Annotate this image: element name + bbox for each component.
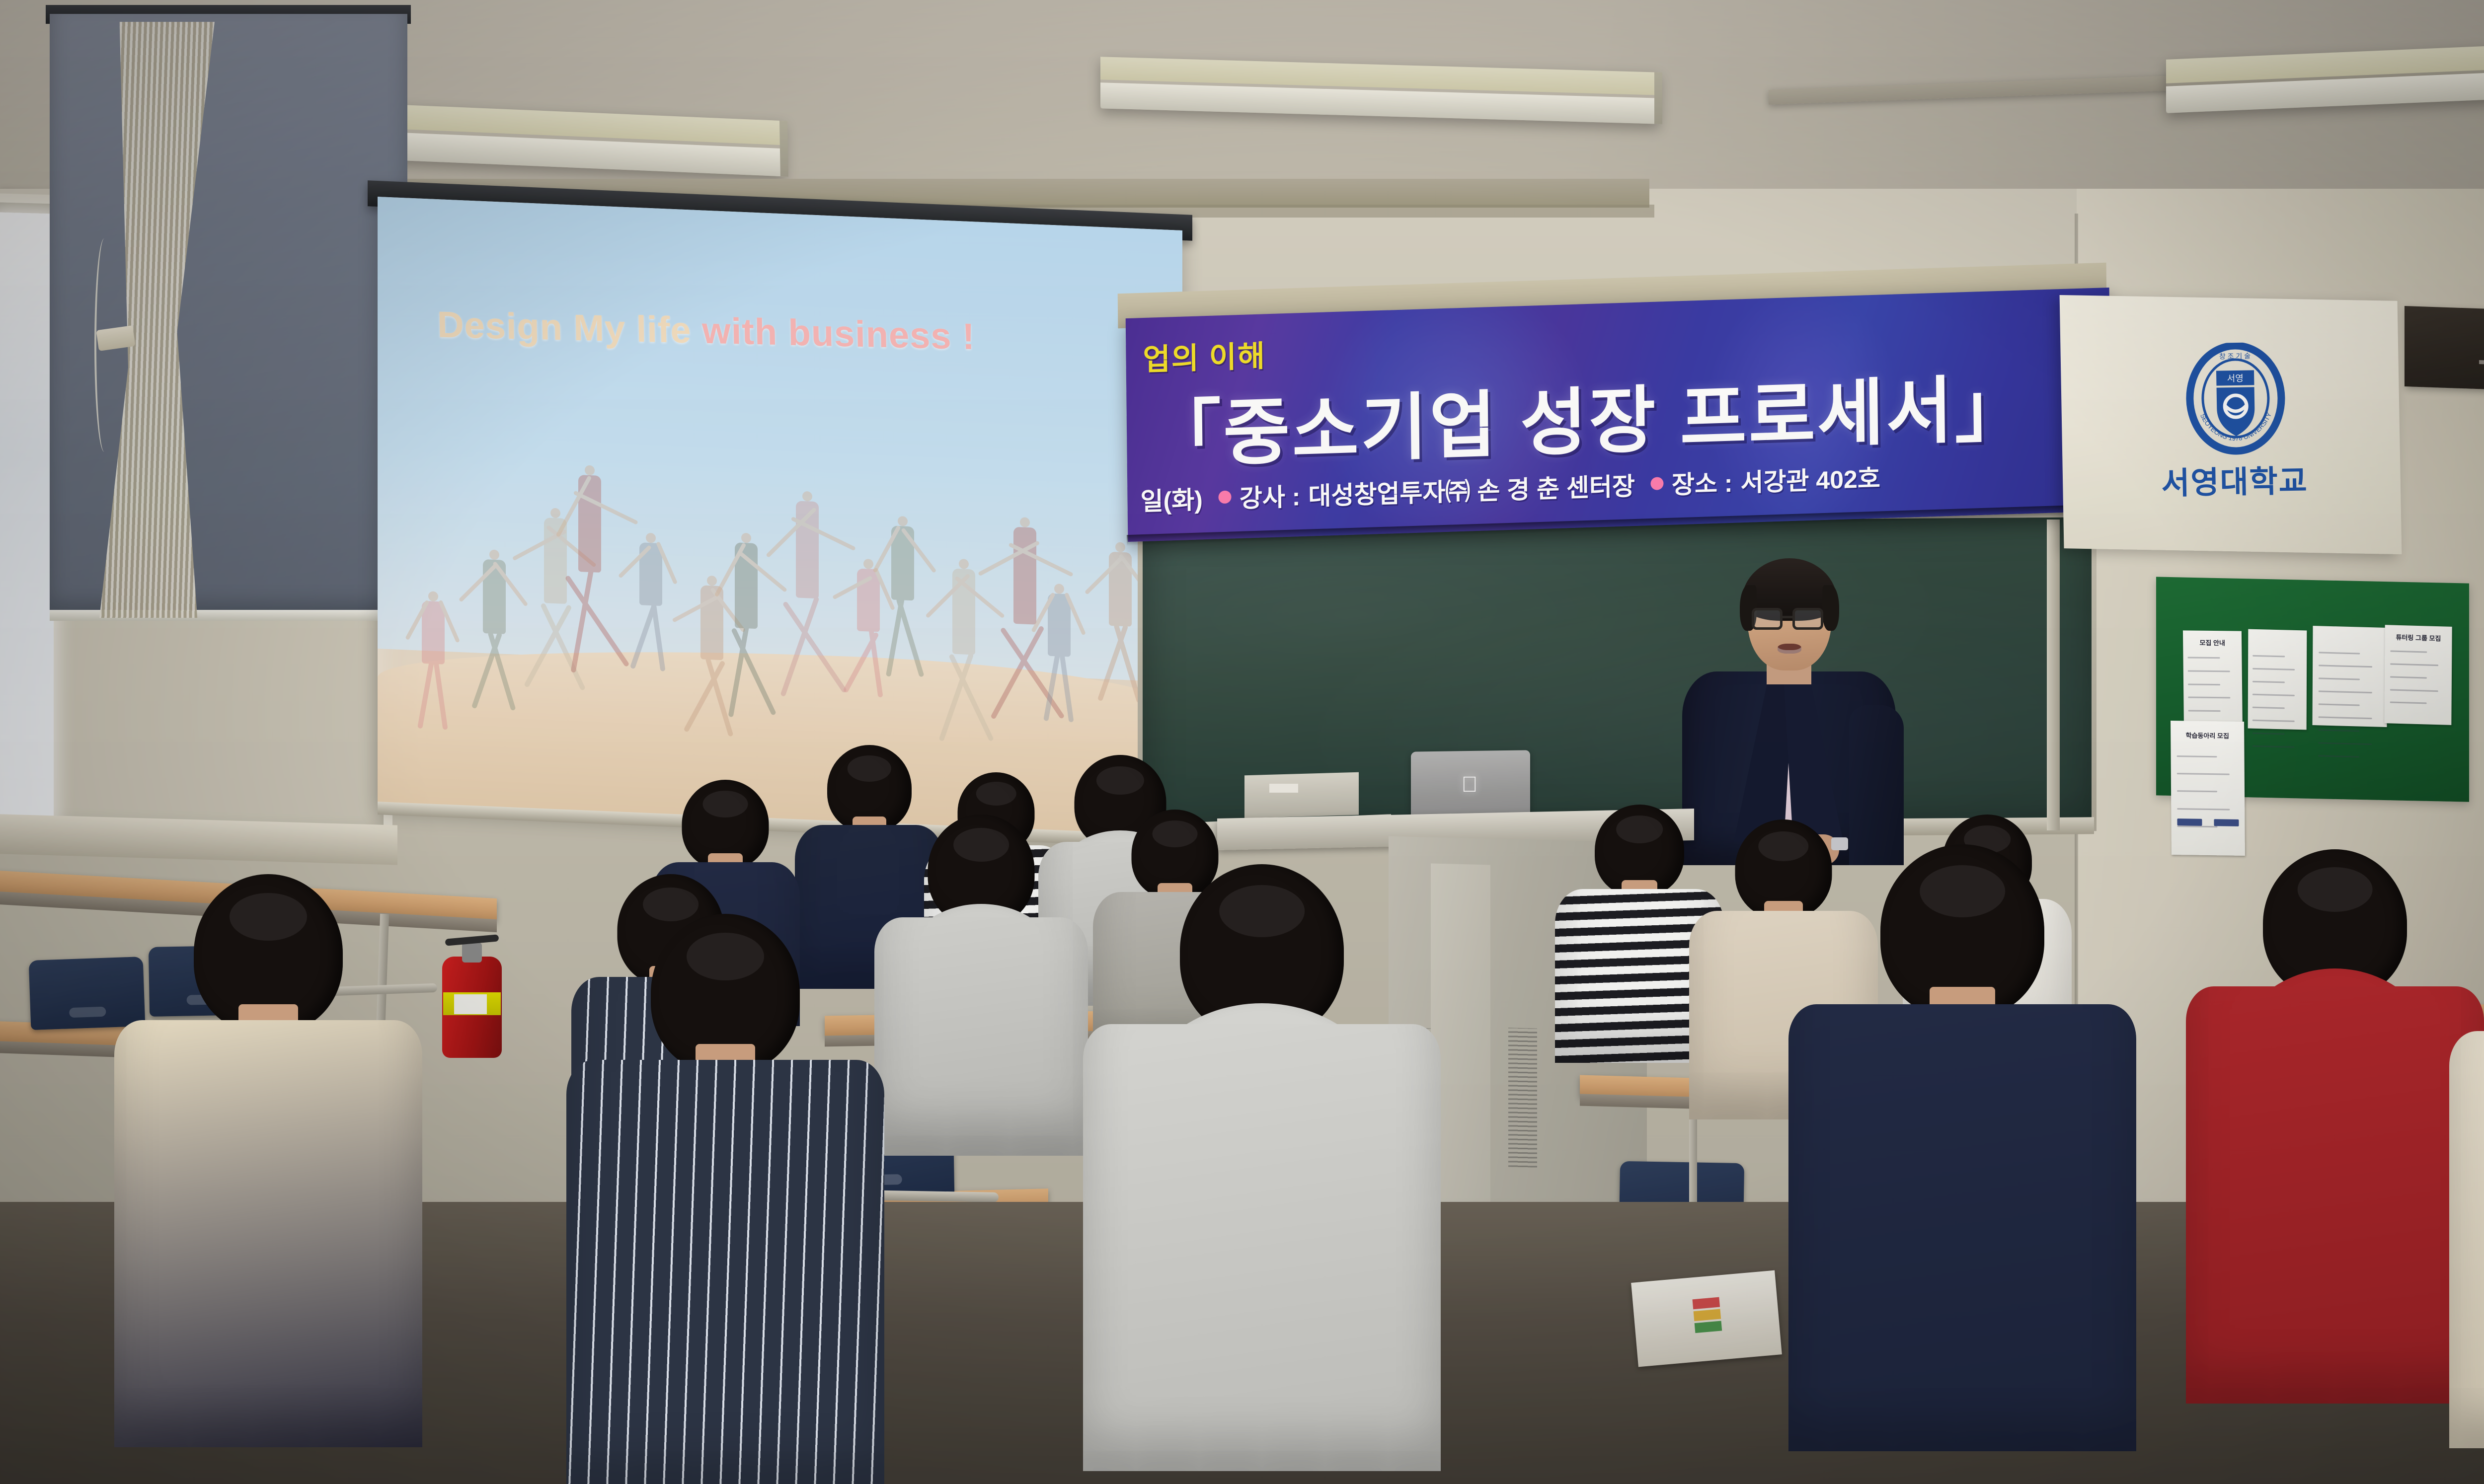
fire-extinguisher-neck <box>462 943 482 963</box>
bulletin-poster[interactable] <box>2312 626 2387 727</box>
student-hair-highlight <box>976 782 1016 806</box>
banner-subtitle: 업의 이해 <box>1143 332 1266 379</box>
student-hair-highlight <box>230 893 307 941</box>
fire-extinguisher-label <box>454 994 487 1014</box>
poster-badge <box>2177 818 2202 826</box>
slide-jumper-figure <box>725 532 767 738</box>
fire-extinguisher <box>442 934 502 1058</box>
wall-speaker-icon <box>2405 306 2484 390</box>
poster-text-line <box>2390 664 2438 667</box>
student-hair-highlight <box>1920 865 2005 917</box>
slide-headline-part1: Design My life <box>437 303 692 351</box>
blind-cord[interactable] <box>94 238 114 452</box>
student-plaid-shirt <box>566 914 884 1484</box>
banner-place: 서강관 402호 <box>1740 458 1880 499</box>
event-banner: 업의 이해 「중소기업 성장 프로세서」 일(화) 강사 : 대성창업투자㈜ 손… <box>1126 288 2112 542</box>
presenter-glasses-bridge <box>1783 616 1793 618</box>
poster-text-line <box>2176 755 2217 757</box>
student-hair-highlight <box>1616 816 1663 843</box>
student-torso <box>874 917 1088 1156</box>
student-grey-hoodie-a <box>874 815 1088 1165</box>
poster-text-line <box>2253 655 2285 658</box>
presenter-hair-side-right <box>1822 585 1839 631</box>
banner-date: 일(화) <box>1140 480 1203 518</box>
slide-jumper-figure <box>473 549 515 727</box>
bulletin-poster[interactable]: 모집 안내 <box>2183 630 2243 733</box>
poster-text-line <box>2319 690 2372 693</box>
classroom-scene: Design My life with business ! 업의 이해 「중소… <box>0 0 2484 1484</box>
poster-text-line <box>2319 677 2360 680</box>
poster-title: 튜터링 그룹 모집 <box>2390 632 2447 643</box>
student-torso <box>566 1060 884 1484</box>
slide-jumper-figure <box>1099 541 1141 720</box>
student-torso <box>2449 1031 2484 1448</box>
slide-jumper-figure <box>630 532 672 683</box>
poster-text-line <box>2390 676 2427 678</box>
slide-jumper-figure <box>786 491 828 724</box>
poster-text-line <box>2319 703 2360 706</box>
university-name: 서영대학교 <box>2105 454 2364 504</box>
slide-headline-part2: with business ! <box>701 310 975 358</box>
poster-text-line <box>2252 681 2285 683</box>
svg-text:서영: 서영 <box>2227 373 2244 384</box>
student-khaki-shirt <box>2449 894 2484 1460</box>
poster-text-line <box>2390 689 2438 692</box>
student-torso <box>2186 986 2484 1404</box>
student-hair-highlight <box>1219 885 1305 937</box>
student-hair-highlight <box>703 791 748 817</box>
poster-text-line <box>2319 665 2372 668</box>
podium-vent-right <box>1508 1028 1537 1167</box>
open-notebook[interactable] <box>1631 1270 1782 1367</box>
poster-title: 학습동아리 모집 <box>2176 730 2238 741</box>
student-navy-sweater <box>1788 844 2136 1465</box>
student-torso <box>114 1020 422 1447</box>
bulletin-poster[interactable] <box>2248 629 2307 730</box>
presenter-glasses-left-lens <box>1752 608 1783 630</box>
window-glass <box>0 212 54 824</box>
poster-text-line <box>2188 683 2220 685</box>
presenter-glasses-right-lens <box>1792 608 1823 630</box>
apple-logo-icon:  <box>1460 775 1479 797</box>
student-grey-hoodie-b <box>1083 864 1441 1484</box>
poster-text-line <box>2252 694 2295 696</box>
poster-text-line <box>2177 773 2230 775</box>
university-emblem-icon: 서영 창 조 기 술 SEOYEONG 1978 UNIVERSITY <box>2185 342 2286 457</box>
student-torso <box>1083 1024 1441 1471</box>
student-red-hoodie <box>2186 849 2484 1415</box>
poster-text-line <box>2188 710 2221 712</box>
banner-place-label: 장소 : <box>1672 463 1733 501</box>
notebook-tab-green <box>1695 1321 1722 1333</box>
podium-equipment-label <box>1269 784 1298 793</box>
poster-text-line <box>2177 808 2230 810</box>
svg-text:창 조 기 술: 창 조 기 술 <box>2219 352 2251 360</box>
presenter-mouth <box>1778 644 1801 654</box>
slide-jumper-figure <box>1038 583 1080 734</box>
poster-text-line <box>2390 702 2426 704</box>
student-hair-highlight <box>2298 867 2373 912</box>
poster-text-line <box>2188 657 2220 659</box>
poster-text-line <box>2390 651 2427 653</box>
slide-jumper-figure <box>569 464 611 697</box>
poster-text-line <box>2177 791 2217 793</box>
podium-equipment-box <box>1244 772 1359 818</box>
poster-text-line <box>2253 668 2295 670</box>
poster-text-line <box>2319 652 2360 654</box>
notebook-tab-red <box>1693 1297 1720 1310</box>
bulletin-poster[interactable]: 학습동아리 모집 <box>2171 721 2245 856</box>
slide-jumper-figure <box>882 516 924 694</box>
bullet-dot-icon-2 <box>1651 477 1664 490</box>
student-beige-vest <box>114 874 422 1460</box>
poster-text-line <box>2188 670 2230 672</box>
slide-jumper-figure <box>412 591 454 742</box>
banner-speaker-label: 강사 : <box>1239 477 1300 515</box>
student-hair-highlight <box>1153 820 1198 847</box>
poster-badge <box>2214 819 2239 826</box>
slide-jumper-figure <box>943 558 985 764</box>
student-hair-highlight <box>848 755 891 782</box>
poster-title: 모집 안내 <box>2188 638 2237 648</box>
poster-text-line <box>2319 716 2372 719</box>
bullet-dot-icon <box>1219 490 1232 504</box>
student-torso <box>1788 1004 2136 1451</box>
poster-text-line <box>2252 720 2295 722</box>
student-hair-highlight <box>1096 766 1144 795</box>
poster-text-line <box>2188 697 2231 699</box>
poster-text-line <box>2252 707 2285 709</box>
poster-text-line <box>2177 825 2217 827</box>
notebook-tab-yellow <box>1694 1309 1721 1322</box>
bulletin-poster[interactable]: 튜터링 그룹 모집 <box>2384 625 2452 725</box>
projection-screen: Design My life with business ! <box>378 197 1182 841</box>
chalkboard-right-rail <box>2047 519 2060 830</box>
student-hair-highlight <box>687 933 764 980</box>
student-hair-highlight <box>953 828 1009 862</box>
